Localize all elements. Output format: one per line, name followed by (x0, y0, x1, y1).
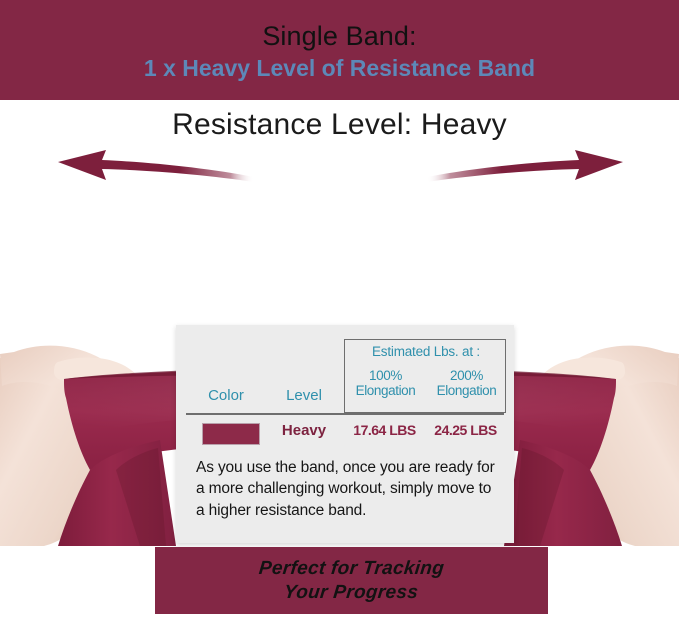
panel-note: As you use the band, once you are ready … (196, 457, 496, 521)
right-stretch-arrow (427, 148, 623, 193)
left-stretch-arrow (58, 148, 254, 193)
column-header-color: Color (186, 387, 266, 404)
banner-title: Single Band: (262, 22, 416, 50)
right-arrow-shape (427, 150, 623, 182)
banner-subtitle: 1 x Heavy Level of Resistance Band (144, 55, 535, 81)
table-row: Heavy 17.64 LBS 24.25 LBS (176, 420, 514, 450)
bottom-banner: Perfect for Tracking Your Progress (155, 547, 548, 614)
column-header-100-elongation: 100% Elongation (345, 368, 426, 398)
column-header-100-line1: 100% (369, 368, 402, 383)
bottom-banner-line2: Your Progress (283, 581, 420, 604)
column-header-200-line1: 200% (450, 368, 483, 383)
cell-elongation-100: 17.64 LBS (344, 422, 425, 438)
cell-level: Heavy (268, 422, 340, 439)
column-header-200-line2: Elongation (437, 383, 497, 398)
resistance-info-panel: Estimated Lbs. at : 100% Elongation 200%… (176, 325, 514, 543)
estimated-lbs-header: Estimated Lbs. at : (345, 344, 507, 359)
column-header-200-elongation: 200% Elongation (426, 368, 507, 398)
page-title: Resistance Level: Heavy (0, 108, 679, 142)
estimated-lbs-group: Estimated Lbs. at : 100% Elongation 200%… (344, 339, 506, 413)
product-infographic: Estimated Lbs. at : 100% Elongation 200%… (0, 0, 679, 621)
table-header-divider (186, 413, 504, 415)
column-header-100-line2: Elongation (356, 383, 416, 398)
left-arrow-shape (58, 150, 254, 182)
cell-elongation-200: 24.25 LBS (425, 422, 506, 438)
top-banner: Single Band: 1 x Heavy Level of Resistan… (0, 0, 679, 100)
resistance-table: Estimated Lbs. at : 100% Elongation 200%… (176, 325, 514, 445)
band-color-swatch (202, 423, 260, 445)
column-header-level: Level (268, 387, 340, 404)
bottom-banner-line1: Perfect for Tracking (258, 557, 446, 580)
